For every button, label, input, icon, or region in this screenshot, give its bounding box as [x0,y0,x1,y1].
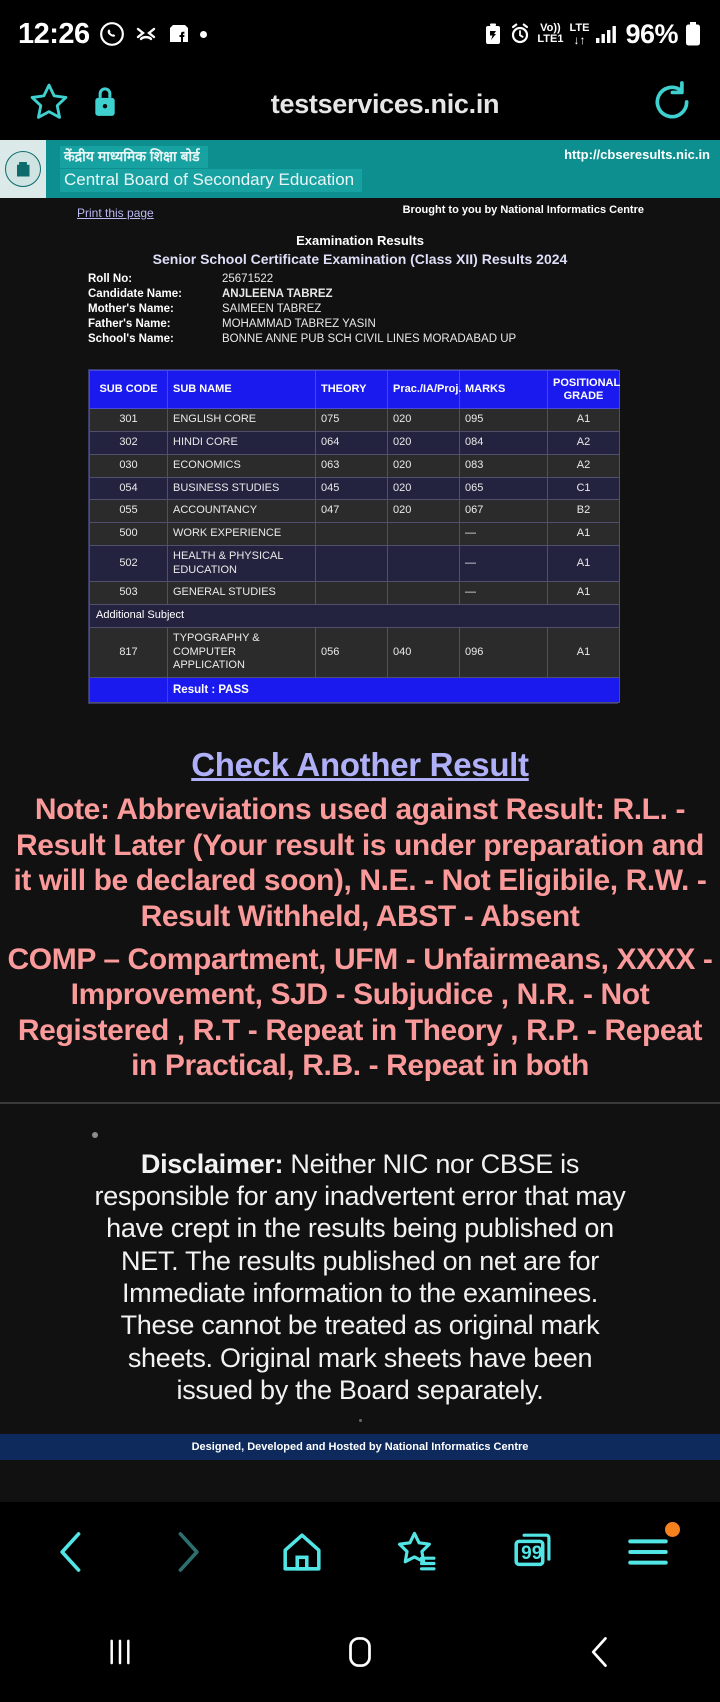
abbreviations-note-part1: Note: Abbreviations used against Result:… [0,792,720,934]
candidate-details: Roll No: 25671522 Candidate Name: ANJLEE… [88,273,720,345]
col-sub-code: SUB CODE [90,371,168,409]
cell-marks: 065 [460,477,548,500]
print-this-page-link[interactable]: Print this page [77,206,154,220]
cell-theory: 064 [316,432,388,455]
home-button-icon[interactable] [315,1622,405,1682]
cell-sub-name: ACCOUNTANCY [168,500,316,523]
volte-icon: Vo)) LTE1 [537,23,563,45]
status-bar: 12:26 Vo)) LTE1 LTE ↓↑ 96% [0,0,720,68]
cell-grade: A1 [548,627,620,677]
cell-sub-code: 054 [90,477,168,500]
col-marks: MARKS [460,371,548,409]
table-row: 302 HINDI CORE 064 020 084 A2 [90,432,620,455]
disclaimer-text: Disclaimer: Neither NIC nor CBSE is resp… [0,1148,720,1407]
tabs-icon[interactable]: 99 [495,1514,571,1590]
check-another-result-link[interactable]: Check Another Result [0,746,720,784]
cell-prac: 020 [388,409,460,432]
cell-marks: — [460,545,548,582]
cell-grade: A1 [548,582,620,605]
result-status-label: Result : PASS [168,678,620,703]
back-chevron-icon[interactable] [34,1514,110,1590]
col-positional-grade: POSITIONAL GRADE [548,371,620,409]
small-dot-icon [359,1419,362,1422]
candidate-label: Mother's Name: [88,303,222,315]
mute-icon [134,22,158,46]
cell-theory [316,545,388,582]
lte-label: LTE [569,23,589,34]
table-row: 055 ACCOUNTANCY 047 020 067 B2 [90,500,620,523]
candidate-row: School's Name: BONNE ANNE PUB SCH CIVIL … [88,333,720,345]
cell-marks: 095 [460,409,548,432]
cell-grade: A1 [548,523,620,546]
cell-sub-name: WORK EXPERIENCE [168,523,316,546]
whatsapp-icon [99,21,125,47]
signal-bars-icon [595,23,619,45]
table-row: 301 ENGLISH CORE 075 020 095 A1 [90,409,620,432]
cell-sub-code: 302 [90,432,168,455]
candidate-value: MOHAMMAD TABREZ YASIN [222,318,376,330]
web-page-content: केंद्रीय माध्यमिक शिक्षा बोर्ड Central B… [0,140,720,1502]
cbse-emblem-box [0,140,46,198]
col-prac-ia-proj: Prac./IA/Proj. [388,371,460,409]
cell-theory [316,523,388,546]
table-header-row: SUB CODE SUB NAME THEORY Prac./IA/Proj. … [90,371,620,409]
result-spacer [90,678,168,703]
candidate-value: SAIMEEN TABREZ [222,303,321,315]
candidate-label: School's Name: [88,333,222,345]
brought-to-you-label: Brought to you by National Informatics C… [403,204,644,216]
notification-dot-icon [200,31,207,38]
cell-grade: B2 [548,500,620,523]
address-bar-url[interactable]: testservices.nic.in [138,89,632,120]
back-button-icon[interactable] [555,1622,645,1682]
cell-prac [388,545,460,582]
data-saver-icon [483,22,503,46]
lte-icon: LTE ↓↑ [569,23,589,46]
additional-subject-label: Additional Subject [90,605,620,628]
menu-notification-badge [665,1522,680,1537]
cell-sub-code: 502 [90,545,168,582]
cell-prac: 020 [388,432,460,455]
lock-icon[interactable] [90,84,120,125]
candidate-row: Father's Name: MOHAMMAD TABREZ YASIN [88,318,720,330]
table-row: 502 HEALTH & PHYSICAL EDUCATION — A1 [90,545,620,582]
status-bar-left: 12:26 [18,18,207,51]
results-table: SUB CODE SUB NAME THEORY Prac./IA/Proj. … [89,370,620,703]
table-row: 817 TYPOGRAPHY & COMPUTER APPLICATION 05… [90,627,620,677]
volte-bottom-label: LTE1 [537,34,563,45]
cell-sub-name: TYPOGRAPHY & COMPUTER APPLICATION [168,627,316,677]
cbse-hindi-title: केंद्रीय माध्यमिक शिक्षा बोर्ड [60,146,208,168]
cbse-banner-titles: केंद्रीय माध्यमिक शिक्षा बोर्ड Central B… [46,140,362,198]
candidate-row: Roll No: 25671522 [88,273,720,285]
cell-marks: — [460,582,548,605]
cell-prac [388,582,460,605]
cell-sub-code: 500 [90,523,168,546]
exam-results-title: Examination Results [0,233,720,248]
cell-sub-name: ENGLISH CORE [168,409,316,432]
cbse-english-title: Central Board of Secondary Education [60,169,362,192]
tab-count-label: 99 [521,1542,542,1564]
col-theory: THEORY [316,371,388,409]
forward-chevron-icon[interactable] [149,1514,225,1590]
cell-prac: 020 [388,500,460,523]
footer-credit-label: Designed, Developed and Hosted by Nation… [192,1441,529,1453]
reload-icon[interactable] [650,80,694,129]
section-divider [0,1102,720,1104]
cell-prac: 020 [388,454,460,477]
cell-sub-code: 503 [90,582,168,605]
candidate-value: BONNE ANNE PUB SCH CIVIL LINES MORADABAD… [222,333,516,345]
android-system-nav [0,1602,720,1702]
disclaimer-body: Neither NIC nor CBSE is responsible for … [95,1149,626,1406]
cbse-banner: केंद्रीय माध्यमिक शिक्षा बोर्ड Central B… [0,140,720,198]
cell-sub-code: 055 [90,500,168,523]
cell-theory [316,582,388,605]
cell-grade: A2 [548,454,620,477]
status-bar-right: Vo)) LTE1 LTE ↓↑ 96% [483,19,702,50]
candidate-label: Candidate Name: [88,288,222,300]
cell-sub-name: BUSINESS STUDIES [168,477,316,500]
browser-top-bar: testservices.nic.in [0,68,720,140]
result-status-row: Result : PASS [90,678,620,703]
table-row: 500 WORK EXPERIENCE — A1 [90,523,620,546]
cell-theory: 056 [316,627,388,677]
sub-header-bar: Print this page Brought to you by Nation… [0,198,720,230]
cell-prac: 040 [388,627,460,677]
home-icon[interactable] [264,1514,340,1590]
cell-sub-code: 030 [90,454,168,477]
disclaimer-label: Disclaimer: [141,1149,283,1179]
lte-arrows-icon: ↓↑ [573,34,585,46]
cell-grade: A1 [548,409,620,432]
cell-marks: 067 [460,500,548,523]
cell-grade: C1 [548,477,620,500]
cell-sub-name: ECONOMICS [168,454,316,477]
recents-button-icon[interactable] [75,1622,165,1682]
table-row: 503 GENERAL STUDIES — A1 [90,582,620,605]
candidate-row: Candidate Name: ANJLEENA TABREZ [88,288,720,300]
cell-sub-name: GENERAL STUDIES [168,582,316,605]
candidate-value: ANJLEENA TABREZ [222,288,333,300]
results-table-head: SUB CODE SUB NAME THEORY Prac./IA/Proj. … [90,371,620,409]
candidate-value: 25671522 [222,273,273,285]
facebook-marketplace-icon [167,22,191,46]
hamburger-menu-icon[interactable] [610,1514,686,1590]
browser-bottom-nav: 99 [0,1502,720,1602]
cell-sub-name: HEALTH & PHYSICAL EDUCATION [168,545,316,582]
cell-prac: 020 [388,477,460,500]
cell-marks: 083 [460,454,548,477]
page-bottom-spacer [0,1460,720,1502]
candidate-label: Father's Name: [88,318,222,330]
bullet-point-icon [92,1132,98,1138]
col-sub-name: SUB NAME [168,371,316,409]
cell-marks: — [460,523,548,546]
cell-prac [388,523,460,546]
candidate-label: Roll No: [88,273,222,285]
table-row: 030 ECONOMICS 063 020 083 A2 [90,454,620,477]
cell-marks: 096 [460,627,548,677]
exam-results-subtitle: Senior School Certificate Examination (C… [0,251,720,267]
cell-grade: A2 [548,432,620,455]
page-footer-bar: Designed, Developed and Hosted by Nation… [0,1434,720,1460]
cell-sub-code: 817 [90,627,168,677]
cell-grade: A1 [548,545,620,582]
cell-theory: 063 [316,454,388,477]
cell-sub-name: HINDI CORE [168,432,316,455]
battery-percent-label: 96% [625,19,678,50]
cell-theory: 047 [316,500,388,523]
status-time: 12:26 [18,18,90,51]
cell-theory: 045 [316,477,388,500]
bookmark-star-icon[interactable] [380,1514,456,1590]
results-table-body: 301 ENGLISH CORE 075 020 095 A1 302 HIND… [90,409,620,703]
star-icon[interactable] [26,79,72,130]
alarm-icon [509,22,531,46]
cbse-results-url: http://cbseresults.nic.in [564,147,710,162]
candidate-row: Mother's Name: SAIMEEN TABREZ [88,303,720,315]
table-row: 054 BUSINESS STUDIES 045 020 065 C1 [90,477,620,500]
cell-marks: 084 [460,432,548,455]
additional-subject-row: Additional Subject [90,605,620,628]
battery-icon [684,21,702,47]
cell-theory: 075 [316,409,388,432]
results-table-wrapper: SUB CODE SUB NAME THEORY Prac./IA/Proj. … [88,369,618,704]
cell-sub-code: 301 [90,409,168,432]
abbreviations-note-part2: COMP – Compartment, UFM - Unfairmeans, X… [0,942,720,1084]
cbse-emblem-icon [5,151,41,187]
